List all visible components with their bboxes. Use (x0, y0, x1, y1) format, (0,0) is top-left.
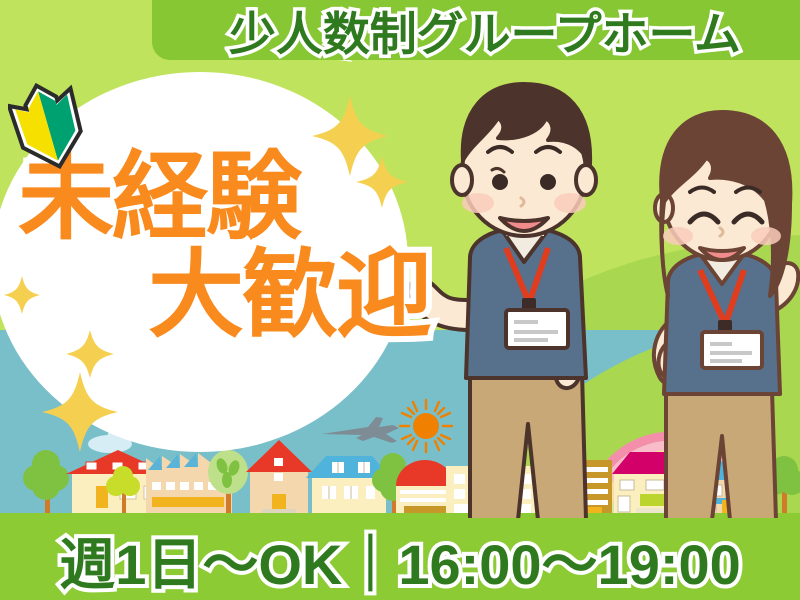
top-banner-label: 少人数制グループホーム (229, 0, 741, 64)
bottom-banner-text: 週1日〜OK｜16:00〜19:00 (0, 524, 800, 596)
job-ad-poster: 少人数制グループホーム 未経験 大歓迎 週1日〜OK｜16:00〜19:00 (0, 0, 800, 600)
dome-building (396, 460, 454, 516)
wakaba-beginner-mark-icon (8, 78, 88, 174)
headline-group: 未経験 大歓迎 (8, 150, 438, 344)
top-banner-text: 少人数制グループホーム (160, 0, 800, 62)
sun (400, 400, 452, 452)
headline-line-2: 大歓迎 (148, 248, 438, 344)
